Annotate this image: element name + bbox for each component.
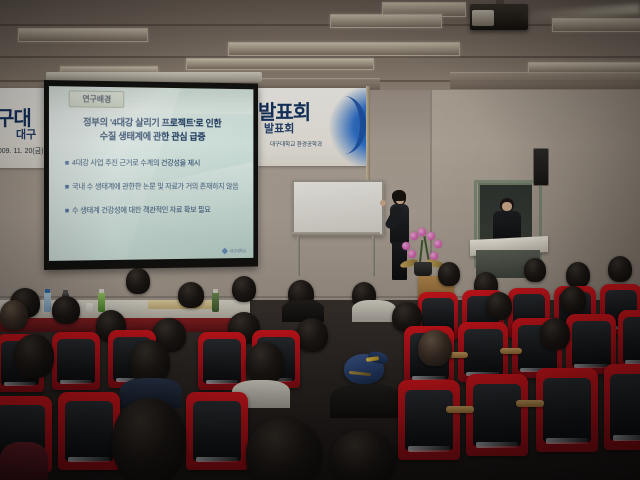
orchid-flower	[408, 250, 416, 258]
banner-left-line2: 대구	[16, 126, 36, 142]
bullet-marker-icon: ■	[65, 158, 69, 167]
auditorium-seat	[198, 332, 246, 390]
audience-head	[566, 262, 590, 288]
audience-head	[540, 318, 570, 350]
whiteboard-tray	[292, 232, 380, 236]
audience-shoulders	[330, 384, 402, 418]
lecture-hall-photo: 구대 대구 2009. 11. 20(금) 발표회 발표회 대구대학교 환경공학…	[0, 0, 640, 480]
projector-lens-icon	[472, 10, 494, 26]
slide-bullet-text: 4대강 사업 추진 근거로 수계의 건강성을 제시	[72, 158, 200, 167]
audience-head	[14, 334, 54, 378]
moderator-face	[502, 202, 512, 211]
audience-head	[296, 318, 328, 352]
auditorium-seat	[52, 332, 100, 390]
slide-bullet-list: ■4대강 사업 추진 근거로 수계의 건강성을 제시 ■국내 수 생태계에 관한…	[65, 158, 246, 230]
audience-head	[112, 398, 186, 480]
banner-right-line3: 대구대학교 환경공학과	[270, 140, 322, 148]
presentation-slide: 연구배경 정부의 '4대강 살리기 프로젝트'로 인한 수질 생태계에 관한 관…	[49, 86, 253, 261]
audience-head	[438, 262, 460, 286]
audience-head	[246, 342, 284, 384]
auditorium-seat	[466, 374, 528, 456]
seat-armrest	[516, 400, 544, 407]
ceiling-light-fixture	[228, 42, 460, 56]
auditorium-seat	[618, 310, 640, 370]
banner-right: 발표회 발표회 대구대학교 환경공학과	[258, 88, 368, 166]
auditorium-seat	[604, 364, 640, 450]
seat-armrest	[446, 406, 474, 413]
water-bottle	[44, 292, 51, 312]
banner-left-date: 2009. 11. 20(금)	[0, 146, 44, 156]
presenter-hand	[380, 200, 386, 206]
audience-head	[608, 256, 632, 282]
ceiling-light-fixture	[552, 18, 640, 32]
wall-speaker-icon	[533, 148, 549, 186]
presenter-hair	[392, 190, 406, 201]
slide-bullet-item: ■4대강 사업 추진 근거로 수계의 건강성을 제시	[65, 158, 246, 168]
audience-head	[486, 292, 512, 320]
bullet-marker-icon: ■	[65, 182, 69, 191]
orchid-flower	[402, 242, 410, 250]
paper-cup	[86, 303, 93, 313]
audience-head	[418, 330, 452, 366]
audience-head	[524, 258, 546, 282]
ceiling-light-fixture	[186, 58, 374, 70]
auditorium-seat	[536, 368, 598, 452]
water-bottle	[98, 292, 105, 312]
audience-head	[178, 282, 204, 308]
slide-logo-text: 대구대학교	[230, 248, 246, 254]
ceiling-light-fixture	[330, 14, 442, 28]
orchid-flower	[434, 240, 442, 248]
water-bottle	[212, 292, 219, 312]
slide-bullet-text: 국내 수 생태계에 관한한 논문 및 자료가 거의 존재하지 않음	[72, 182, 238, 191]
ceiling-light-fixture	[18, 28, 148, 42]
slide-section-tag: 연구배경	[69, 90, 125, 108]
auditorium-seat	[58, 392, 120, 470]
slide-bullet-item: ■수 생태계 건강성에 대한 객관적인 자료 확보 필요	[65, 205, 246, 216]
logo-diamond-icon	[222, 248, 229, 255]
audience-shoulders	[352, 300, 396, 322]
orchid-flower	[418, 228, 426, 236]
audience-head	[126, 268, 150, 294]
slide-heading-line2: 수질 생태계에 관한 관심 급증	[49, 130, 253, 145]
audience-head	[52, 296, 80, 324]
audience-shoulders	[0, 442, 48, 480]
slide-bullet-text: 수 생태계 건강성에 대한 객관적인 자료 확보 필요	[72, 205, 211, 215]
audience-head	[330, 430, 396, 480]
slide-heading: 정부의 '4대강 살리기 프로젝트'로 인한 수질 생태계에 관한 관심 급증	[49, 116, 253, 145]
whiteboard	[292, 180, 384, 236]
audience-head	[0, 300, 28, 330]
auditorium-seat	[398, 380, 460, 460]
projection-screen: 연구배경 정부의 '4대강 살리기 프로젝트'로 인한 수질 생태계에 관한 관…	[44, 80, 258, 270]
slide-bullet-item: ■국내 수 생태계에 관한한 논문 및 자료가 거의 존재하지 않음	[65, 182, 246, 192]
orchid-flower	[427, 232, 435, 240]
seat-armrest	[500, 348, 522, 354]
audience-head	[246, 418, 322, 480]
blue-baseball-cap	[344, 352, 388, 386]
auditorium-seat	[186, 392, 248, 470]
slide-university-logo: 대구대학교	[222, 247, 246, 254]
orchid-flower	[410, 232, 418, 240]
orchid-pot	[414, 262, 432, 276]
audience-head	[232, 276, 256, 302]
audience-head	[560, 286, 586, 314]
banner-right-line2: 발표회	[264, 120, 294, 136]
bullet-marker-icon: ■	[65, 206, 69, 215]
